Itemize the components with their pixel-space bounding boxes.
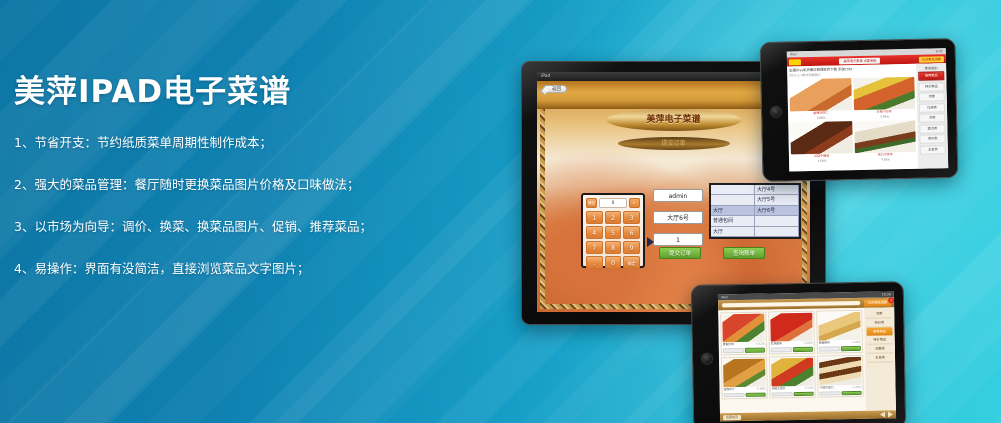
dish-card[interactable]: 椒盐酥饼 ￥18元 [816,310,863,353]
brand-logo-icon [789,59,801,65]
status-carrier: iPad [541,72,550,81]
page-title: 美萍IPAD电子菜谱 [14,72,484,112]
dish-order-button[interactable] [841,390,862,395]
feature-item: 2、强大的菜品管理：餐厅随时更换菜品图片价格及口味做法； [14,176,484,193]
dish-photo [722,314,764,343]
pointer-arrow-icon [647,237,654,247]
feature-item: 4、易操作：界面有没简洁，直接浏览菜品文字图片； [14,260,484,277]
back-button[interactable]: 返回 [543,85,567,93]
dish-card[interactable]: 爽口木耳拌 ￥28元 [854,120,916,162]
keypad-key[interactable]: . [586,256,603,269]
screen-subtitle: 提交订单 [618,137,730,150]
category-item[interactable]: 热炒类 [866,318,892,327]
dish-card[interactable]: 彩椒小炒肉 ￥38元 [853,77,915,119]
keypad-clear-button[interactable]: 清空 [586,198,597,208]
dish-price: ￥36元 [756,386,765,391]
dish-card[interactable]: 千层巧克力 ￥26元 [817,354,864,397]
dish-photo [819,356,861,385]
next-page-icon[interactable] [888,411,893,417]
tablet-bezel: iPad 10:26 已点菜品结算 3 [691,281,907,423]
dish-price: ￥38元 [854,114,916,119]
keypad-key[interactable]: 5 [605,226,622,239]
dish-order-button[interactable] [744,348,765,353]
numeric-keypad[interactable]: 清空 6 ← 1 2 3 4 5 6 7 8 [581,193,645,268]
dish-photo [818,312,860,341]
table-cell-selected[interactable]: 大厅6号 [755,206,799,216]
dish-price: ￥22元 [804,385,813,390]
header-title: 美萍电子菜谱 点菜系统 [839,57,880,64]
query-bill-button[interactable]: 查询账单 [723,247,765,259]
cart-label: 已点菜品结算 [868,300,887,304]
dish-grid-area: 青椒炒肉 ￥32元 红 [718,308,866,414]
order-action-buttons: 提交订单 查询账单 [659,247,765,259]
tablet-bezel: iPad 9:42 美萍电子菜谱 点菜系统 已点菜品结算 出国片vs机房餐饮管理… [760,38,959,182]
status-carrier: iPad [790,51,797,57]
dish-order-button[interactable] [840,346,861,351]
keypad-key[interactable]: 3 [623,211,640,224]
table-cell[interactable]: 大厅 [711,206,755,216]
keypad-key[interactable]: 1 [586,211,603,224]
dish-detail-button[interactable] [724,392,745,397]
dish-actions [771,347,813,352]
table-cell[interactable]: 大厅4号 [755,185,799,195]
banner-copy: 美萍IPAD电子菜谱 1、节省开支：节约纸质菜单周期性制作成本； 2、强大的菜品… [14,72,484,302]
dish-body: 青椒炒肉 ￥32元 红 [718,307,896,413]
feature-item: 1、节省开支：节约纸质菜单周期性制作成本； [14,134,484,151]
dish-order-button[interactable] [792,347,813,352]
dish-grid: 香辣河虾仁 ￥68元 彩椒小炒肉 ￥38元 红烧牛腩煲 [789,77,916,164]
table-cell[interactable]: 大厅 [711,227,755,237]
status-carrier: iPad [721,294,728,300]
dish-detail-button[interactable] [819,346,840,351]
table-cell[interactable]: 普通包间 [711,216,755,226]
dish-actions [820,390,862,395]
dish-photo [854,120,916,153]
dish-detail-button[interactable] [820,391,841,396]
app-title: 美萍电子菜谱 [606,109,741,131]
menu-body: 出国片vs机房餐饮管理软件下载 系统critx 2011-1-9款式功能简介 香… [787,63,948,171]
dish-photo [789,78,851,111]
checkout-button[interactable]: 已点菜品结算 [919,56,944,63]
keypad-key[interactable]: 7 [586,241,603,254]
dish-order-button[interactable] [793,391,814,396]
category-item[interactable]: 汤羹类 [867,344,893,353]
dish-photo [771,357,813,386]
dish-grid-area: 出国片vs机房餐饮管理软件下载 系统critx 2011-1-9款式功能简介 香… [787,64,918,172]
cart-badge: 3 [888,297,894,303]
people-count-field[interactable]: 1 [653,233,703,246]
home-button-icon[interactable] [770,106,782,118]
dish-name: 红烧茄条 [771,341,782,346]
cart-checkout-button[interactable]: 已点菜品结算 3 [864,299,891,306]
dish-detail-button[interactable] [771,347,792,352]
dish-card[interactable]: 香辣河虾仁 ￥68元 [789,78,851,120]
category-item[interactable]: 红烧类 [919,103,945,113]
dish-meta: 宫保鸡丁 ￥36元 [724,386,766,392]
dish-price: ￥28元 [804,341,813,346]
dish-actions [772,391,814,396]
table-cell[interactable]: 大厅5号 [755,195,799,205]
status-time: 9:42 [936,48,943,54]
dish-name: 尖椒土豆片 [772,386,786,391]
category-sidebar: 菜系类别 推荐菜品 特价菜品 凉菜 红烧类 汤类 面点类 煲仔类 主食类 [916,63,948,169]
category-item[interactable]: 煲仔类 [920,134,946,144]
dish-price: ￥26元 [852,384,861,389]
home-button-icon[interactable] [701,352,713,364]
dish-name: 千层巧克力 [820,385,834,390]
dish-detail-button[interactable] [772,392,793,397]
order-fields: admin 大厅6号 1 [653,189,703,255]
dish-name: 青椒炒肉 [723,342,734,347]
dish-price: ￥18元 [852,340,861,345]
table-cell[interactable] [755,227,799,237]
keypad-key[interactable]: 8 [605,241,622,254]
tablet-screen-dish-grid: iPad 10:26 已点菜品结算 3 [718,291,896,421]
category-item[interactable]: 凉菜 [866,309,892,318]
keypad-key[interactable]: 4 [586,226,603,239]
dish-card[interactable]: 宫保鸡丁 ￥36元 [721,356,768,399]
dish-actions [724,392,766,397]
dish-name: 宫保鸡丁 [724,387,735,392]
category-item-active[interactable]: 推荐菜品 [918,71,944,81]
feature-item: 3、以市场为向导：调价、换菜、换菜品图片、促销、推荐菜品； [14,218,484,235]
dish-actions [723,348,765,353]
keypad-key[interactable]: 9 [623,241,640,254]
home-link-button[interactable]: 返回首页 [723,415,741,420]
dish-meta: 尖椒土豆片 ￥22元 [772,385,814,391]
dish-photo [790,121,852,154]
dish-card[interactable]: 青椒炒肉 ￥32元 [720,312,767,355]
dish-card[interactable]: 红烧牛腩煲 ￥58元 [790,121,852,163]
keypad-backspace-button[interactable]: ← [629,198,640,208]
dish-price: ￥28元 [855,157,917,162]
keypad-display[interactable]: 6 [599,198,627,208]
dish-photo [723,358,765,387]
user-field[interactable]: admin [653,189,703,202]
feature-list: 1、节省开支：节约纸质菜单周期性制作成本； 2、强大的菜品管理：餐厅随时更换菜品… [14,134,484,277]
tablet-device-top-right: iPad 9:42 美萍电子菜谱 点菜系统 已点菜品结算 出国片vs机房餐饮管理… [760,38,959,182]
search-input[interactable] [721,300,861,308]
dish-photo [770,313,812,342]
table-selection-grid[interactable]: 大厅4号 大厅5号 大厅 大厅6号 普通包间 大厅 [709,183,801,239]
keypad-key[interactable]: 0 [605,256,622,269]
category-item[interactable]: 特价菜品 [918,82,944,92]
category-item[interactable]: 主食类 [867,353,893,362]
category-item[interactable]: 特价菜品 [867,335,893,344]
category-item[interactable]: 面点类 [919,124,945,134]
dish-meta: 青椒炒肉 ￥32元 [723,342,765,348]
dish-price: ￥58元 [791,158,853,163]
dish-price: ￥32元 [756,342,765,347]
dish-photo [853,77,915,110]
dish-actions [819,346,861,351]
keypad-top-row: 清空 6 ← [586,198,640,208]
dish-card[interactable]: 尖椒土豆片 ￥22元 [769,355,816,398]
category-item[interactable]: 凉菜 [919,92,945,102]
dish-order-button[interactable] [745,392,766,397]
dish-detail-button[interactable] [723,348,744,353]
tablet-screen-menu-detail: iPad 9:42 美萍电子菜谱 点菜系统 已点菜品结算 出国片vs机房餐饮管理… [787,48,948,171]
table-cell[interactable] [711,185,755,195]
keypad-key[interactable]: 2 [605,211,622,224]
tablet-device-bottom-right: iPad 10:26 已点菜品结算 3 [691,281,907,423]
table-field[interactable]: 大厅6号 [653,211,703,224]
dish-meta: 千层巧克力 ￥26元 [820,384,862,390]
promo-banner: 美萍IPAD电子菜谱 1、节省开支：节约纸质菜单周期性制作成本； 2、强大的菜品… [0,0,1001,423]
table-cell[interactable] [755,216,799,226]
category-sidebar: 凉菜 热炒类 推荐菜品 特价菜品 汤羹类 主食类 [864,307,896,411]
dish-meta: 红烧茄条 ￥28元 [771,341,813,347]
dish-grid: 青椒炒肉 ￥32元 红 [720,310,863,399]
prev-page-icon[interactable] [880,411,885,417]
category-item[interactable]: 主食类 [920,145,946,155]
dish-name: 椒盐酥饼 [819,340,830,345]
pagination-arrows [880,411,893,417]
dish-price: ￥68元 [790,115,852,120]
table-cell[interactable] [711,195,755,205]
keypad-key[interactable]: 6 [623,226,640,239]
keypad-grid: 1 2 3 4 5 6 7 8 9 . 0 确定 [586,211,640,269]
category-item[interactable]: 汤类 [919,113,945,123]
dish-meta: 椒盐酥饼 ￥18元 [819,340,861,346]
submit-order-button[interactable]: 提交订单 [659,247,701,259]
dish-card[interactable]: 红烧茄条 ￥28元 [768,311,815,354]
keypad-confirm-key[interactable]: 确定 [623,256,640,269]
